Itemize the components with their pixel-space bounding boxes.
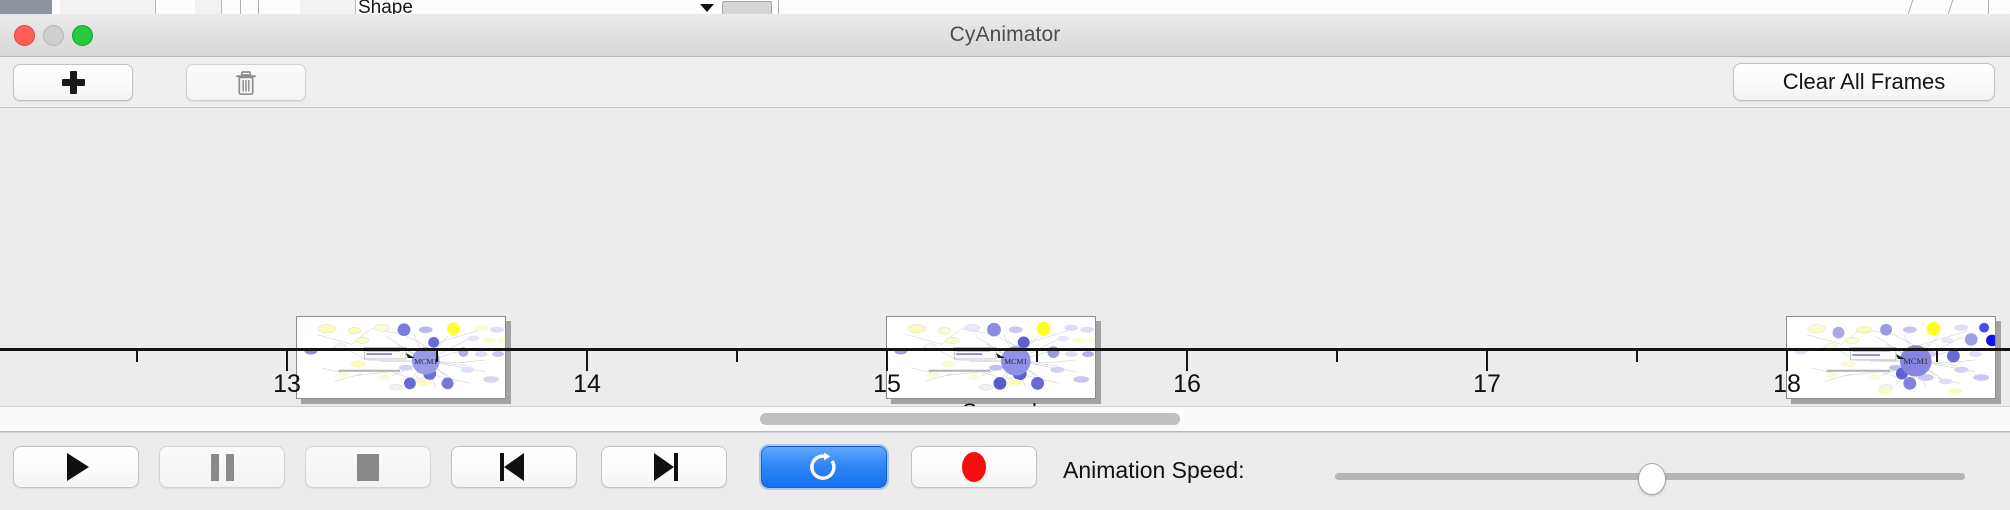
axis-tick bbox=[736, 351, 738, 362]
axis-tick bbox=[136, 351, 138, 362]
axis-tick bbox=[1486, 351, 1488, 371]
axis-tick bbox=[886, 351, 888, 371]
svg-text:MCM1: MCM1 bbox=[414, 357, 437, 366]
axis-tick bbox=[586, 351, 588, 371]
timeline-scrollbar[interactable] bbox=[0, 406, 2010, 432]
background-window-segment bbox=[60, 0, 156, 14]
cyanimator-window: CyAnimator Clear All Frames bbox=[0, 14, 2010, 510]
record-button[interactable] bbox=[911, 446, 1037, 488]
frame-shadow bbox=[1096, 321, 1101, 404]
title-bar: CyAnimator bbox=[0, 14, 2010, 57]
frame-shadow bbox=[506, 321, 511, 404]
add-frame-button[interactable] bbox=[13, 64, 133, 101]
frame-thumbnail-3[interactable]: MCM1 bbox=[1786, 316, 2001, 404]
network-preview-icon: MCM1 bbox=[1787, 317, 1995, 398]
background-window-caret-icon bbox=[700, 4, 714, 12]
timeline-panel[interactable]: MCM1 bbox=[0, 108, 2010, 406]
previous-frame-button[interactable] bbox=[451, 446, 577, 488]
axis-title: Seconds bbox=[0, 399, 2010, 406]
background-window-divider bbox=[778, 0, 779, 14]
axis-tick bbox=[286, 351, 288, 371]
background-window-divider bbox=[1988, 0, 1989, 14]
window-title: CyAnimator bbox=[0, 23, 2010, 47]
background-window-segment bbox=[300, 0, 356, 14]
axis-tick-label: 18 bbox=[1773, 370, 1801, 399]
axis-tick-label: 13 bbox=[273, 370, 301, 399]
axis-tick-label: 17 bbox=[1473, 370, 1501, 399]
skip-next-icon bbox=[650, 453, 678, 481]
background-window-active-tab bbox=[0, 0, 52, 14]
frame-preview: MCM1 bbox=[296, 316, 506, 399]
background-window-label: Shape bbox=[358, 0, 413, 15]
playback-controls: Animation Speed: bbox=[0, 432, 2010, 510]
axis-tick bbox=[436, 351, 438, 362]
trash-icon bbox=[235, 70, 257, 96]
axis-tick-label: 14 bbox=[573, 370, 601, 399]
network-preview-icon: MCM1 bbox=[887, 317, 1095, 398]
pause-button[interactable] bbox=[159, 446, 285, 488]
record-icon bbox=[962, 452, 986, 482]
toolbar: Clear All Frames bbox=[0, 57, 2010, 108]
plus-icon bbox=[62, 71, 85, 94]
skip-previous-icon bbox=[500, 453, 528, 481]
pause-icon bbox=[211, 454, 234, 481]
frame-preview: MCM1 bbox=[1786, 316, 1996, 399]
timeline-axis bbox=[0, 348, 2010, 351]
play-button[interactable] bbox=[13, 446, 139, 488]
axis-tick bbox=[1036, 351, 1038, 362]
loop-button[interactable] bbox=[761, 446, 887, 488]
axis-tick bbox=[1336, 351, 1338, 362]
animation-speed-label: Animation Speed: bbox=[1063, 457, 1245, 484]
axis-tick bbox=[1786, 351, 1788, 371]
axis-tick-label: 15 bbox=[873, 370, 901, 399]
network-preview-icon: MCM1 bbox=[297, 317, 505, 398]
stop-icon bbox=[357, 454, 379, 481]
background-window-divider bbox=[258, 0, 259, 14]
axis-tick bbox=[1936, 351, 1938, 362]
next-frame-button[interactable] bbox=[601, 446, 727, 488]
clear-all-frames-button[interactable]: Clear All Frames bbox=[1733, 63, 1995, 101]
background-window-divider bbox=[1908, 0, 1914, 14]
clear-all-frames-label: Clear All Frames bbox=[1783, 69, 1946, 95]
axis-tick bbox=[1186, 351, 1188, 371]
axis-tick-label: 16 bbox=[1173, 370, 1201, 399]
scrollbar-thumb[interactable] bbox=[760, 413, 1180, 425]
loop-icon bbox=[809, 452, 839, 482]
background-window: Shape bbox=[0, 0, 2010, 15]
frame-thumbnail-2[interactable]: MCM1 bbox=[886, 316, 1101, 404]
frame-thumbnail-1[interactable]: MCM1 bbox=[296, 316, 511, 404]
background-window-divider bbox=[1948, 0, 1954, 14]
axis-tick-label: 12 bbox=[0, 370, 1, 399]
axis-tick bbox=[1636, 351, 1638, 362]
background-window-slider bbox=[722, 1, 772, 15]
svg-text:MCM1: MCM1 bbox=[1004, 357, 1027, 366]
play-icon bbox=[67, 453, 89, 481]
stop-button[interactable] bbox=[305, 446, 431, 488]
svg-text:MCM1: MCM1 bbox=[1903, 357, 1928, 366]
background-window-segment bbox=[195, 0, 222, 14]
frame-shadow bbox=[1996, 321, 2001, 404]
frame-preview: MCM1 bbox=[886, 316, 1096, 399]
animation-speed-slider-thumb[interactable] bbox=[1638, 463, 1666, 495]
background-window-divider bbox=[240, 0, 241, 14]
delete-frame-button[interactable] bbox=[186, 64, 306, 101]
